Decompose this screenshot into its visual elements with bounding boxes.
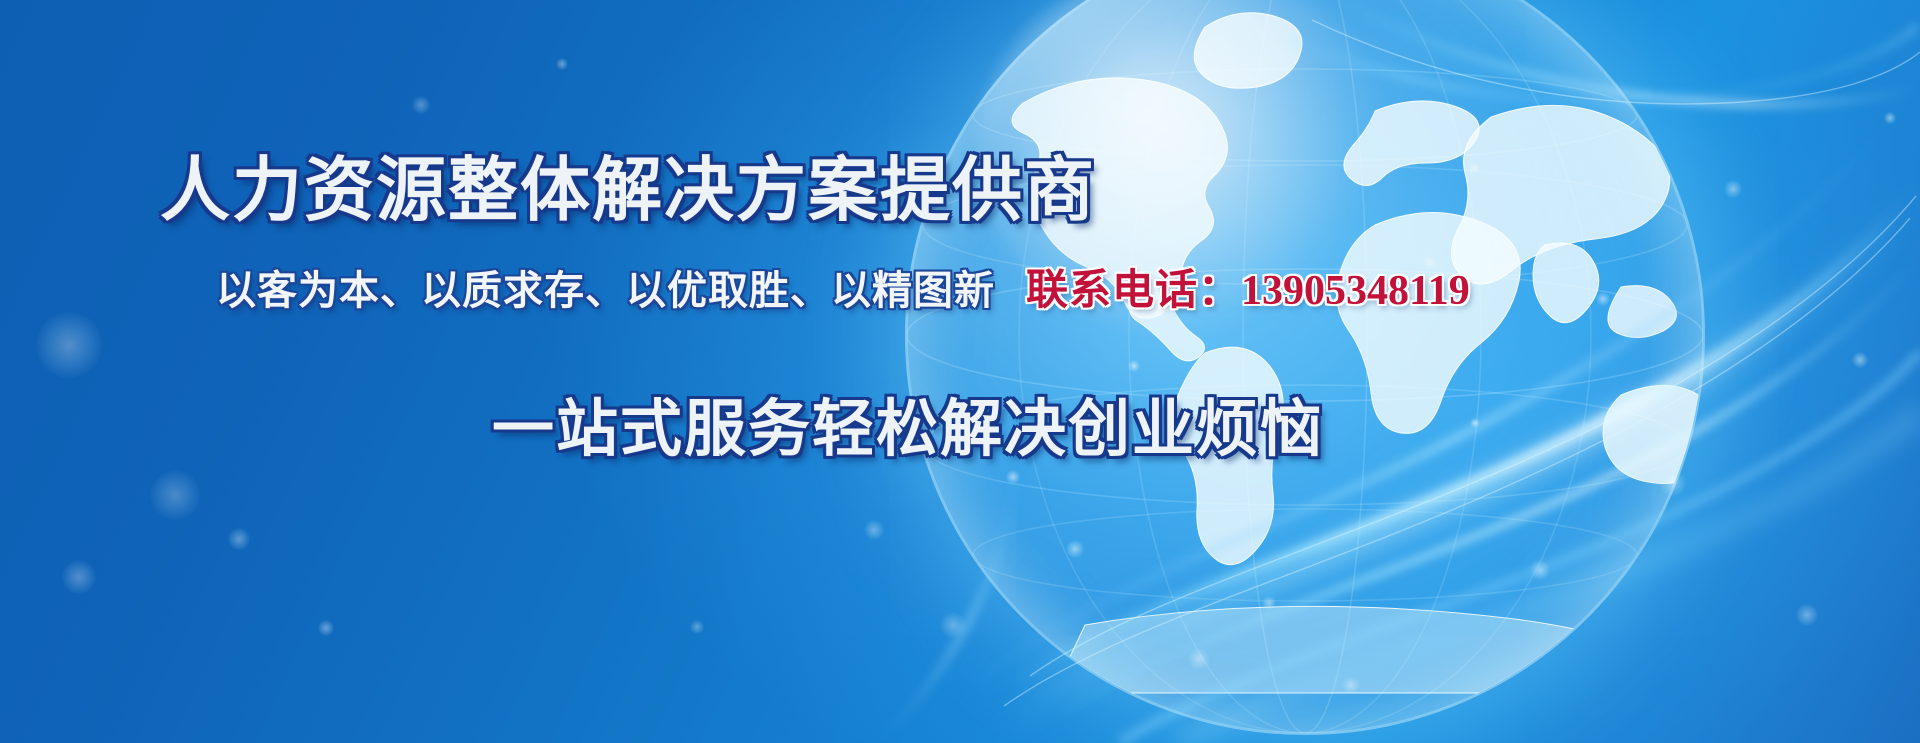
banner-headline: 人力资源整体解决方案提供商: [160, 134, 1096, 235]
globe-graphic: [905, 0, 1705, 735]
contact-phone-number[interactable]: 13905348119: [1241, 268, 1470, 314]
banner-tagline: 一站式服务轻松解决创业烦恼: [492, 378, 1324, 468]
banner-subtitle: 以客为本、以质求存、以优取胜、以精图新: [216, 258, 995, 316]
contact-phone-label: 联系电话：: [1026, 266, 1241, 313]
promotional-banner: 人力资源整体解决方案提供商 以客为本、以质求存、以优取胜、以精图新 联系电话：1…: [0, 0, 1920, 743]
contact-phone[interactable]: 联系电话：13905348119: [1026, 256, 1470, 317]
